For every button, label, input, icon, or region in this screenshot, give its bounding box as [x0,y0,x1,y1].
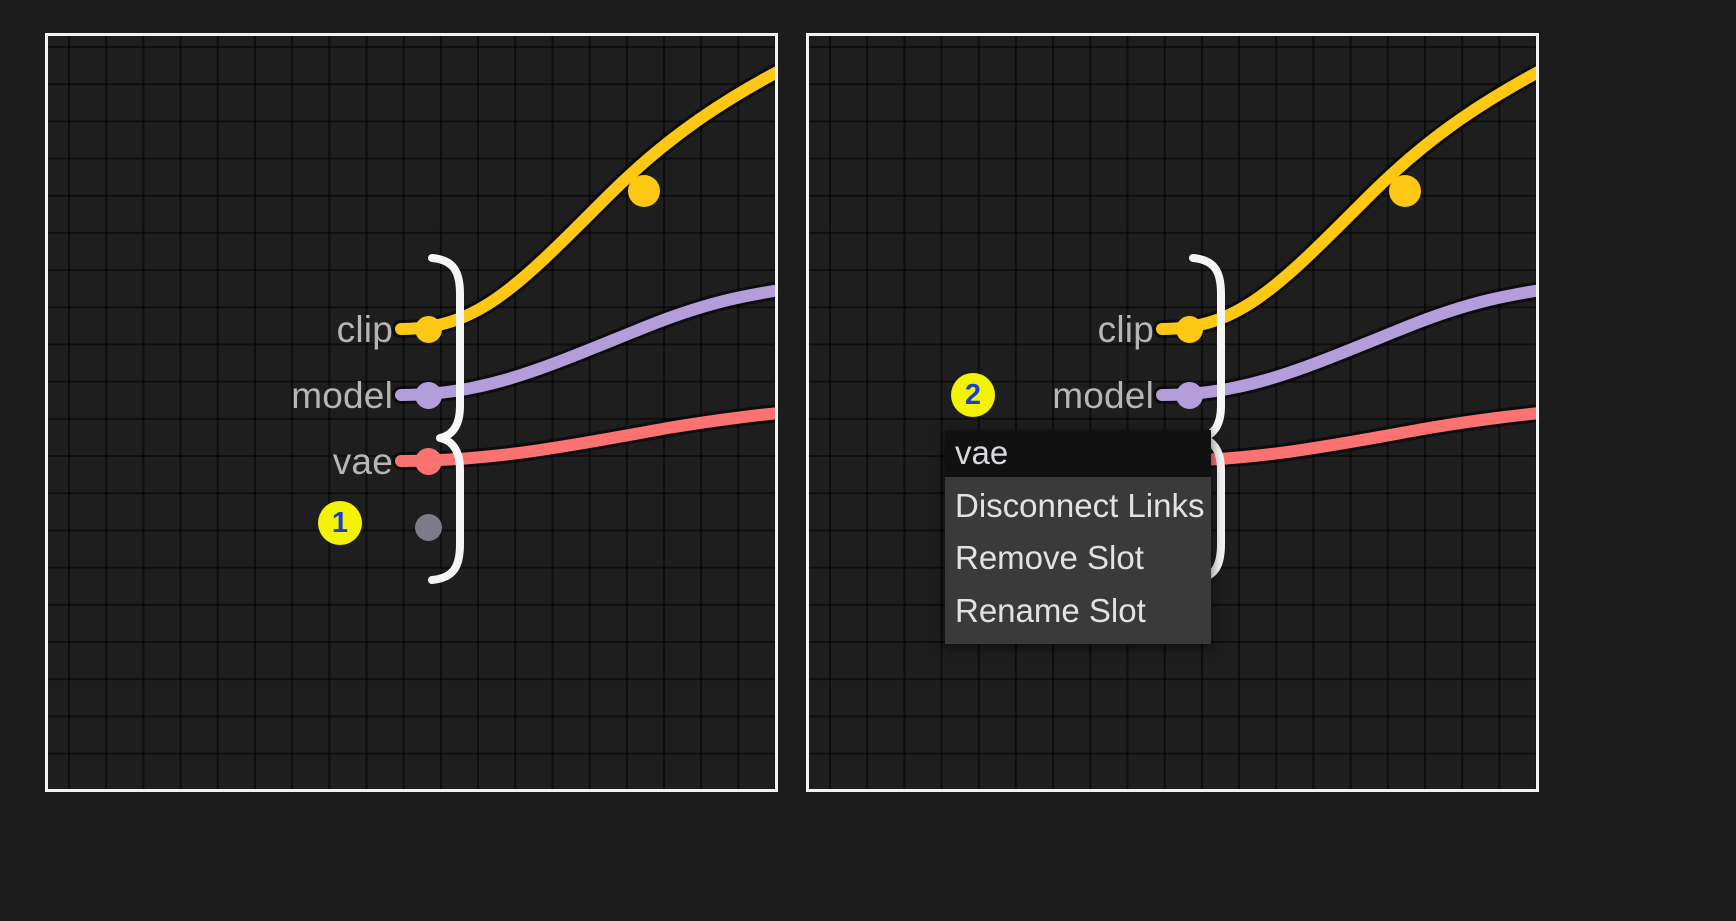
panel-before: clip model vae 1 [45,33,778,792]
slot-dot-empty[interactable] [415,514,442,541]
slot-row-clip[interactable]: clip [1019,309,1203,349]
slot-label-model: model [258,377,393,414]
slot-dot-vae[interactable] [415,448,442,475]
screenshot-root: clip model vae 1 [0,0,1736,921]
context-menu-item-rename-slot[interactable]: Rename Slot [945,586,1211,638]
step-badge-2: 2 [951,373,995,417]
wire-midpoint-dot[interactable] [1389,175,1421,207]
slot-dot-clip[interactable] [1176,316,1203,343]
slot-row-clip[interactable]: clip [258,309,442,349]
slot-dot-model[interactable] [1176,382,1203,409]
slot-label-model: model [1019,377,1154,414]
slot-context-menu[interactable]: vae Disconnect Links Remove Slot Rename … [945,430,1211,644]
context-menu-title: vae [945,430,1211,477]
slot-row-model[interactable]: model [258,375,442,415]
context-menu-items: Disconnect Links Remove Slot Rename Slot [945,477,1211,644]
slot-label-vae: vae [258,443,393,480]
context-menu-item-remove-slot[interactable]: Remove Slot [945,533,1211,585]
slot-dot-model[interactable] [415,382,442,409]
slot-label-clip: clip [1019,311,1154,348]
step-badge-1: 1 [318,501,362,545]
slot-dot-clip[interactable] [415,316,442,343]
panel-after: clip model vae 2 vae Disconnect Links Re… [806,33,1539,792]
slot-row-vae[interactable]: vae [258,441,442,481]
wire-midpoint-dot[interactable] [628,175,660,207]
slot-row-model[interactable]: model [1019,375,1203,415]
context-menu-item-disconnect-links[interactable]: Disconnect Links [945,481,1211,533]
slot-label-clip: clip [258,311,393,348]
